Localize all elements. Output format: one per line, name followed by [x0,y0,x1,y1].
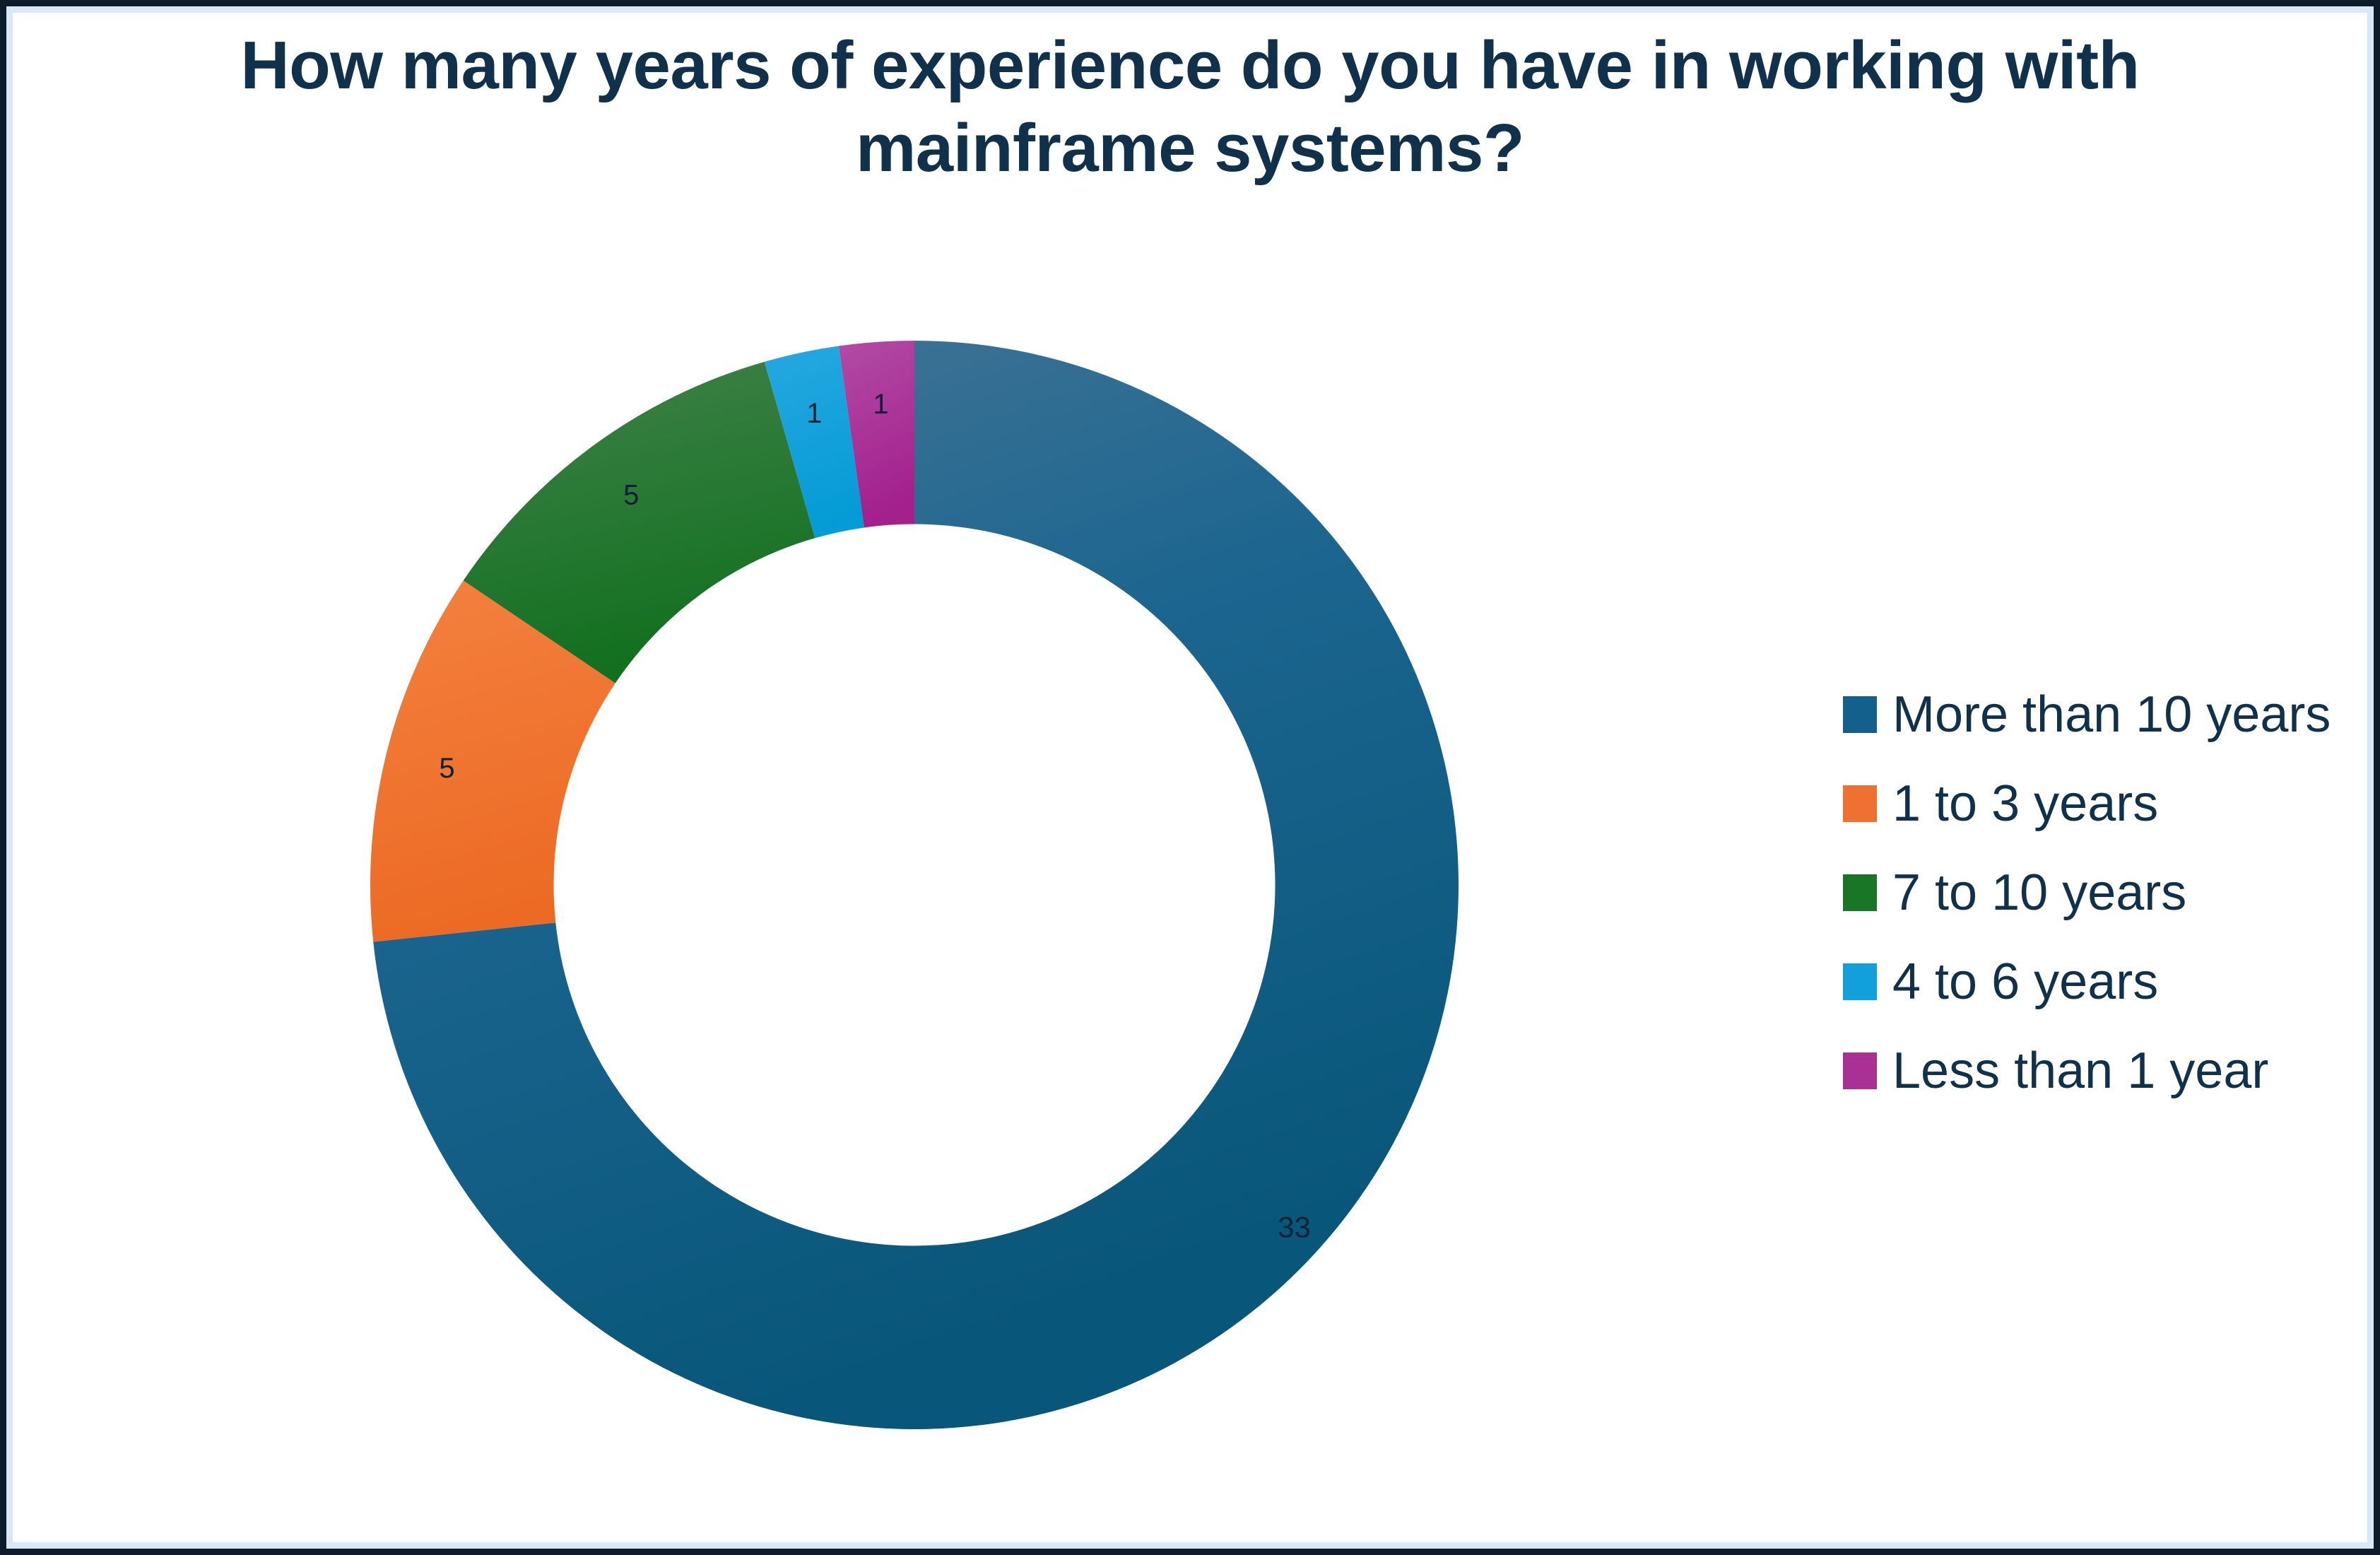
slice-value-label: 1 [806,398,822,429]
legend-item-4-to-6-years[interactable]: 4 to 6 years [1843,937,2366,1026]
slice-value-label: 33 [1278,1210,1311,1243]
legend-swatch-icon [1843,963,1877,1000]
legend-item-label: 7 to 10 years [1892,867,2186,918]
slice-value-label: 5 [623,479,639,510]
legend-item-less-than-1-year[interactable]: Less than 1 year [1843,1026,2366,1115]
legend-swatch-icon [1843,696,1877,733]
legend-item-label: Less than 1 year [1892,1045,2268,1096]
donut-slices [370,341,1459,1429]
legend-swatch-icon [1843,874,1877,911]
legend-item-more-than-10-years[interactable]: More than 10 years [1843,670,2366,759]
legend-item-1-to-3-years[interactable]: 1 to 3 years [1843,759,2366,848]
legend-item-7-to-10-years[interactable]: 7 to 10 years [1843,848,2366,937]
slice-value-label: 1 [873,389,888,420]
legend-item-label: More than 10 years [1892,689,2331,740]
legend-item-label: 4 to 6 years [1892,956,2158,1007]
legend-item-label: 1 to 3 years [1892,778,2158,829]
legend-swatch-icon [1843,785,1877,822]
chart-legend: More than 10 years 1 to 3 years 7 to 10 … [1843,670,2366,1115]
legend-swatch-icon [1843,1052,1877,1089]
chart-page: How many years of experience do you have… [0,0,2380,1555]
slice-value-label: 5 [439,753,454,784]
